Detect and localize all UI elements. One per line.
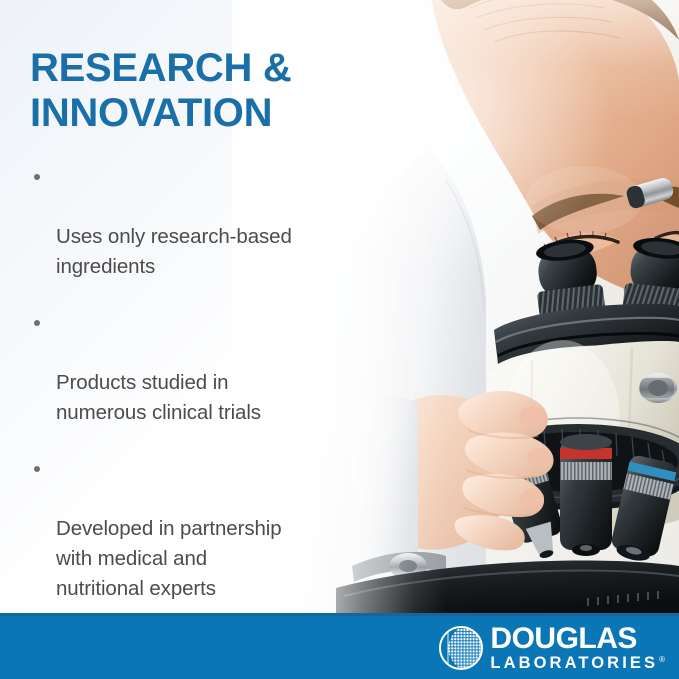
brand-name-primary: DOUGLAS [490, 624, 665, 653]
brand-logo: DOUGLAS LABORATORIES ® [439, 624, 665, 672]
bullet-dot-icon [34, 320, 40, 326]
list-item: Products studied in numerous clinical tr… [30, 308, 420, 428]
page-title: RESEARCH & INNOVATION [30, 46, 420, 136]
footer-bar: DOUGLAS LABORATORIES ® [0, 613, 679, 679]
list-item-label: Uses only research-based ingredients [56, 225, 292, 278]
douglas-grid-circle-logo-mark [439, 626, 483, 670]
feature-bullet-list: Uses only research-based ingredients Pro… [30, 162, 420, 679]
list-item-label: Developed in partnership with medical an… [56, 517, 282, 600]
copy-block: RESEARCH & INNOVATION Uses only research… [0, 0, 420, 616]
brand-name-secondary: LABORATORIES [490, 655, 658, 672]
bullet-dot-icon [34, 174, 40, 180]
registered-trademark-icon: ® [659, 655, 665, 664]
list-item: Developed in partnership with medical an… [30, 454, 420, 604]
bullet-dot-icon [34, 466, 40, 472]
list-item-label: Products studied in numerous clinical tr… [56, 371, 261, 424]
list-item: Uses only research-based ingredients [30, 162, 420, 282]
brand-wordmark: DOUGLAS LABORATORIES ® [490, 624, 665, 672]
marketing-infographic-card: RESEARCH & INNOVATION Uses only research… [0, 0, 679, 679]
